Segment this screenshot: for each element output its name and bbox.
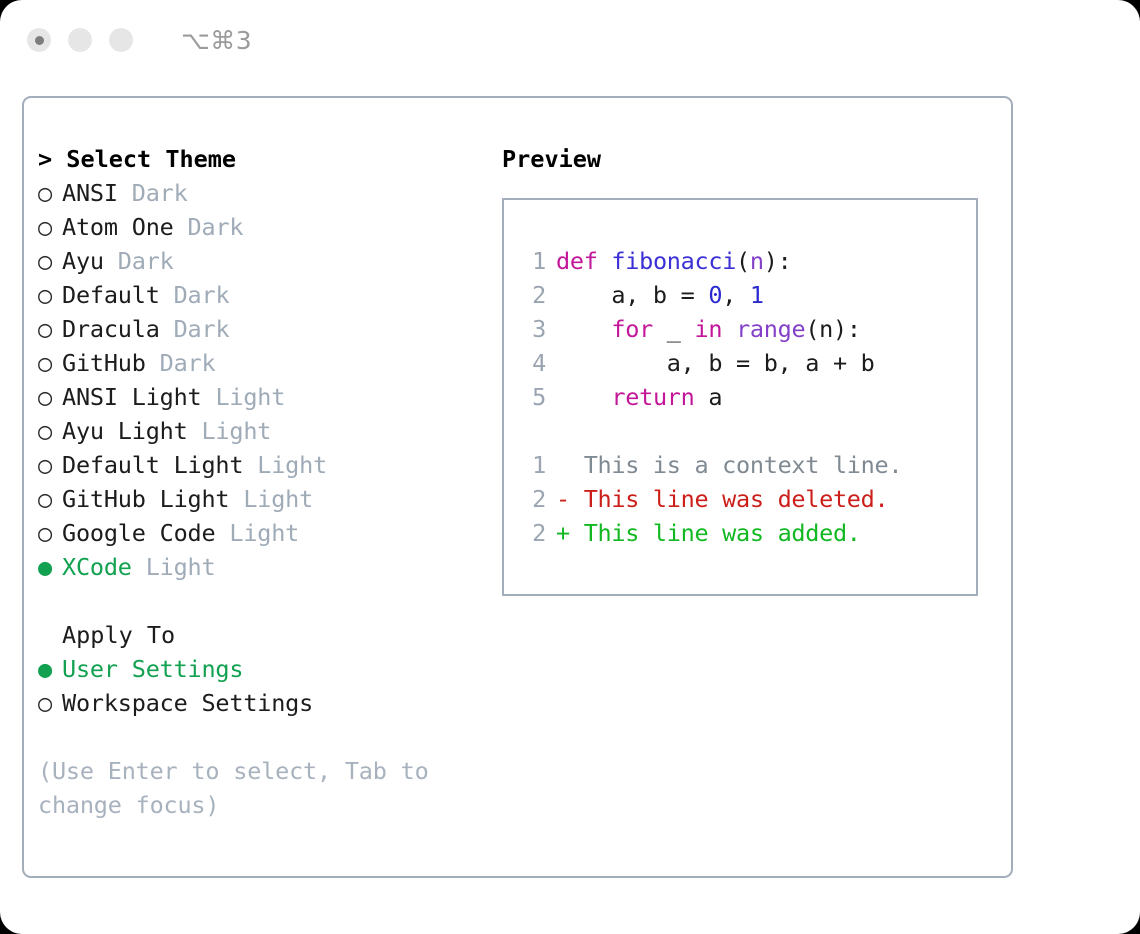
code-token: , [722,281,750,309]
code-preview: 1def fibonacci(n):2 a, b = 0, 13 for _ i… [504,244,976,414]
code-line-number: 1 [524,244,546,278]
theme-list-item[interactable]: ○Atom One Dark [38,210,498,244]
panel-columns: > Select Theme ○ANSI Dark○Atom One Dark○… [24,98,1011,876]
theme-variant-badge: Dark [188,213,244,241]
theme-name-label: ANSI Light [62,383,215,411]
radio-selected-icon: ● [38,550,62,584]
diff-line: 2- This line was deleted. [504,482,976,516]
code-token [556,315,611,343]
theme-list-item[interactable]: ○Ayu Dark [38,244,498,278]
code-line-number: 3 [524,312,546,346]
theme-name-label: Google Code [62,519,229,547]
theme-list-item[interactable]: ○GitHub Light Light [38,482,498,516]
apply-to-option-label: Workspace Settings [62,689,313,717]
code-token: range [736,315,805,343]
apply-to-list[interactable]: ●User Settings○Workspace Settings [38,652,498,720]
radio-unselected-icon: ○ [38,448,62,482]
radio-unselected-icon: ○ [38,686,62,720]
code-diff-gap [504,414,976,448]
apply-to-option-label: User Settings [62,655,243,683]
code-token: a [695,383,723,411]
radio-unselected-icon: ○ [38,516,62,550]
theme-variant-badge: Light [146,553,216,581]
code-line: 1def fibonacci(n): [504,244,976,278]
theme-name-label: Atom One [62,213,188,241]
theme-variant-badge: Light [257,451,327,479]
plain-dot-icon-1[interactable] [68,28,92,52]
code-token: 0 [708,281,722,309]
theme-variant-badge: Dark [174,315,230,343]
theme-list-item[interactable]: ○GitHub Dark [38,346,498,380]
code-line: 3 for _ in range(n): [504,312,976,346]
theme-list-item[interactable]: ○Default Dark [38,278,498,312]
theme-list-item[interactable]: ●XCode Light [38,550,498,584]
radio-selected-icon: ● [38,652,62,686]
code-token: for [611,315,653,343]
code-token: (n): [805,315,860,343]
list-spacer [38,584,498,618]
theme-variant-badge: Light [229,519,299,547]
theme-variant-badge: Dark [160,349,216,377]
diff-line-text: + This line was added. [556,519,861,547]
code-token: _ [653,315,695,343]
theme-variant-badge: Light [215,383,285,411]
code-token: 1 [750,281,764,309]
theme-list-item[interactable]: ○Ayu Light Light [38,414,498,448]
diff-line-text: - This line was deleted. [556,485,888,513]
preview-title: Preview [502,142,1002,176]
radio-unselected-icon: ○ [38,210,62,244]
diff-line-number: 1 [524,448,546,482]
diff-line: 1 This is a context line. [504,448,976,482]
app-window: ⌥⌘3 > Select Theme ○ANSI Dark○Atom One D… [0,0,1140,934]
theme-list-item[interactable]: ○Dracula Dark [38,312,498,346]
radio-unselected-icon: ○ [38,380,62,414]
theme-name-label: Ayu [62,247,118,275]
theme-variant-badge: Light [201,417,271,445]
theme-variant-badge: Dark [118,247,174,275]
window-titlebar: ⌥⌘3 [0,0,1140,80]
code-token: n [750,247,764,275]
code-line-number: 4 [524,346,546,380]
code-token: def [556,247,598,275]
theme-name-label: Default Light [62,451,257,479]
apply-to-option[interactable]: ○Workspace Settings [38,686,498,720]
radio-unselected-icon: ○ [38,244,62,278]
theme-list[interactable]: ○ANSI Dark○Atom One Dark○Ayu Dark○Defaul… [38,176,498,584]
keyboard-hint-text: (Use Enter to select, Tab to change focu… [38,754,458,822]
radio-unselected-icon: ○ [38,346,62,380]
diff-line-number: 2 [524,516,546,550]
theme-list-item[interactable]: ○Google Code Light [38,516,498,550]
radio-unselected-icon: ○ [38,482,62,516]
code-line: 2 a, b = 0, 1 [504,278,976,312]
theme-list-item[interactable]: ○ANSI Light Light [38,380,498,414]
code-token: ( [736,247,750,275]
code-token [556,383,611,411]
code-token: in [695,315,723,343]
plain-dot-icon-2[interactable] [109,28,133,52]
record-dot-inner [35,36,44,45]
theme-list-item[interactable]: ○Default Light Light [38,448,498,482]
theme-name-label: XCode [62,553,146,581]
code-line-number: 5 [524,380,546,414]
radio-unselected-icon: ○ [38,176,62,210]
theme-variant-badge: Light [243,485,313,513]
code-token: return [611,383,694,411]
code-token: fibonacci [611,247,736,275]
diff-line-text: This is a context line. [556,451,902,479]
code-token: a, b = [556,281,708,309]
theme-name-label: GitHub Light [62,485,243,513]
theme-name-label: Dracula [62,315,174,343]
theme-selector-column: > Select Theme ○ANSI Dark○Atom One Dark○… [38,142,498,822]
code-line: 4 a, b = b, a + b [504,346,976,380]
diff-line-number: 2 [524,482,546,516]
apply-to-option[interactable]: ●User Settings [38,652,498,686]
code-line: 5 return a [504,380,976,414]
window-controls [27,28,133,52]
radio-unselected-icon: ○ [38,278,62,312]
theme-name-label: GitHub [62,349,160,377]
preview-box: 1def fibonacci(n):2 a, b = 0, 13 for _ i… [502,198,978,596]
theme-name-label: Ayu Light [62,417,201,445]
code-token [722,315,736,343]
theme-name-label: ANSI [62,179,132,207]
theme-variant-badge: Dark [174,281,230,309]
diff-preview: 1 This is a context line.2- This line wa… [504,448,976,550]
theme-name-label: Default [62,281,174,309]
code-line-number: 2 [524,278,546,312]
preview-column: Preview 1def fibonacci(n):2 a, b = 0, 13… [502,142,1002,596]
theme-list-item[interactable]: ○ANSI Dark [38,176,498,210]
code-token [598,247,612,275]
radio-unselected-icon: ○ [38,414,62,448]
keyboard-shortcut-label: ⌥⌘3 [181,26,252,55]
code-token: ): [764,247,792,275]
radio-unselected-icon: ○ [38,312,62,346]
diff-line: 2+ This line was added. [504,516,976,550]
select-theme-header: > Select Theme [38,142,498,176]
theme-variant-badge: Dark [132,179,188,207]
record-dot-icon[interactable] [27,28,51,52]
apply-to-title: Apply To [38,618,498,652]
code-token: a, b = b, a + b [556,349,875,377]
main-panel: > Select Theme ○ANSI Dark○Atom One Dark○… [22,96,1013,878]
